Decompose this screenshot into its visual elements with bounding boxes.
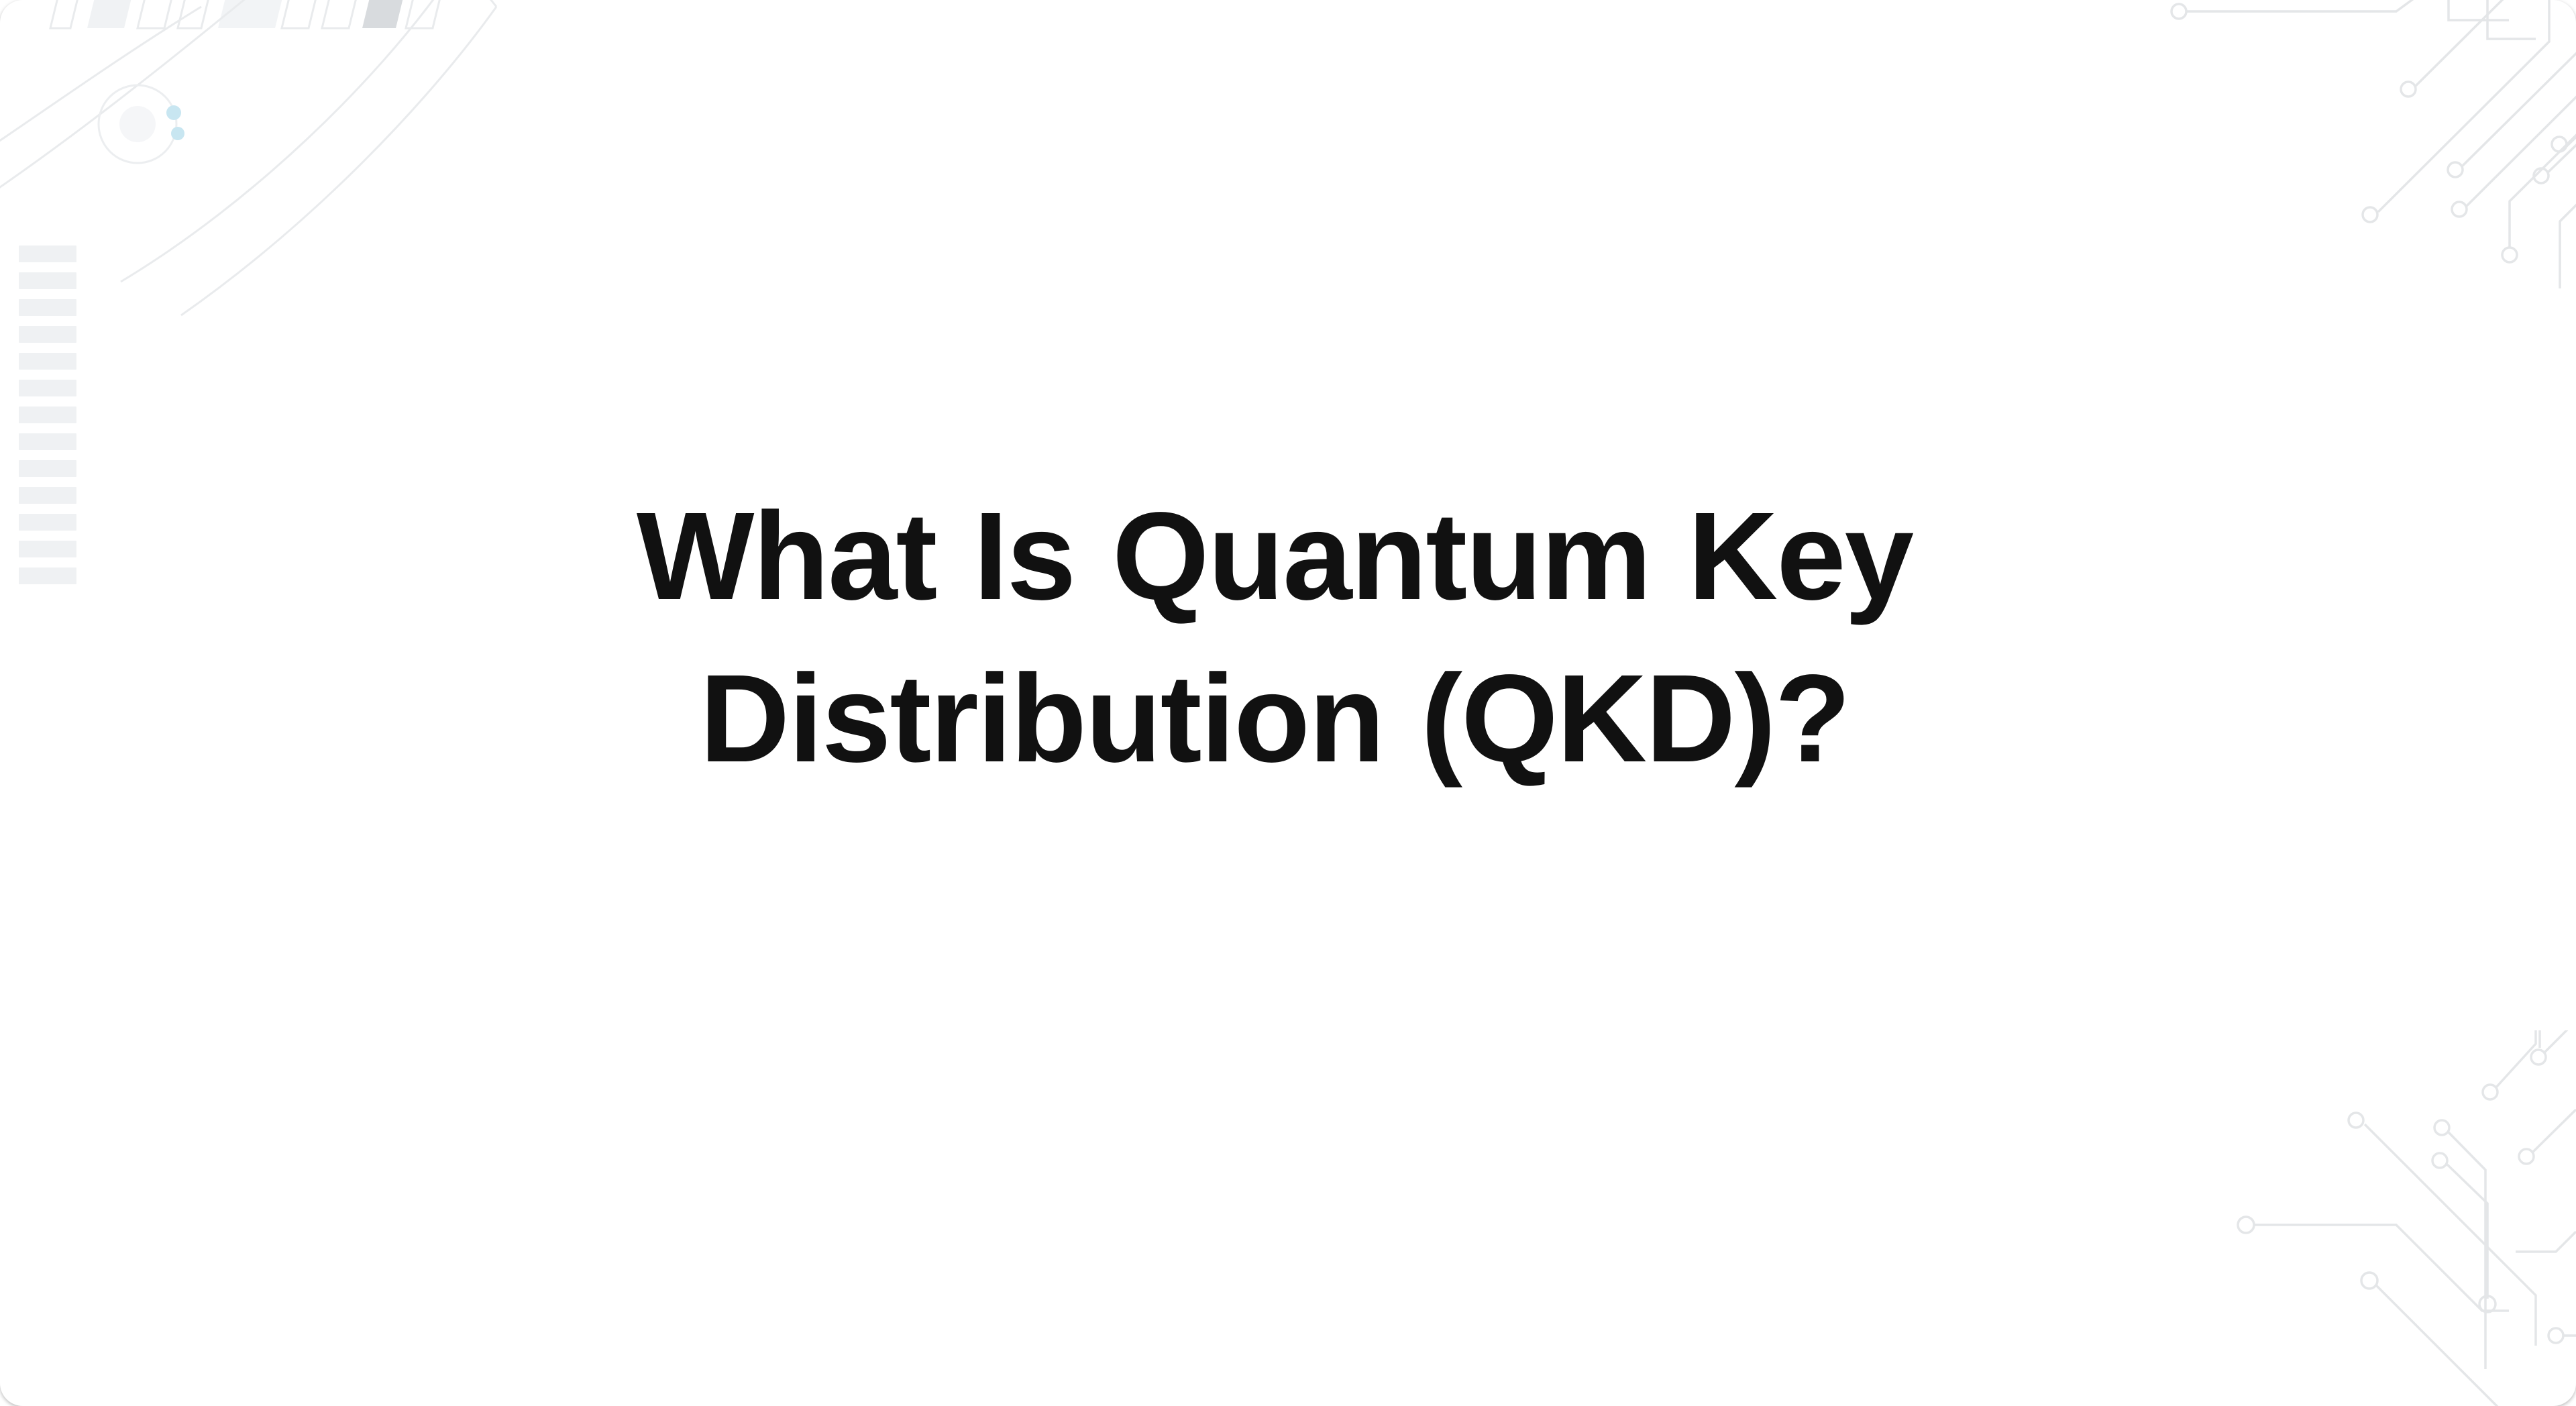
title-container: What Is Quantum Key Distribution (QKD)? <box>0 0 2576 1406</box>
slide-title: What Is Quantum Key Distribution (QKD)? <box>402 476 2147 800</box>
slide-canvas: What Is Quantum Key Distribution (QKD)? <box>0 0 2576 1406</box>
slide-title-line-2: Distribution (QKD)? <box>402 638 2147 800</box>
slide-title-line-1: What Is Quantum Key <box>402 476 2147 638</box>
